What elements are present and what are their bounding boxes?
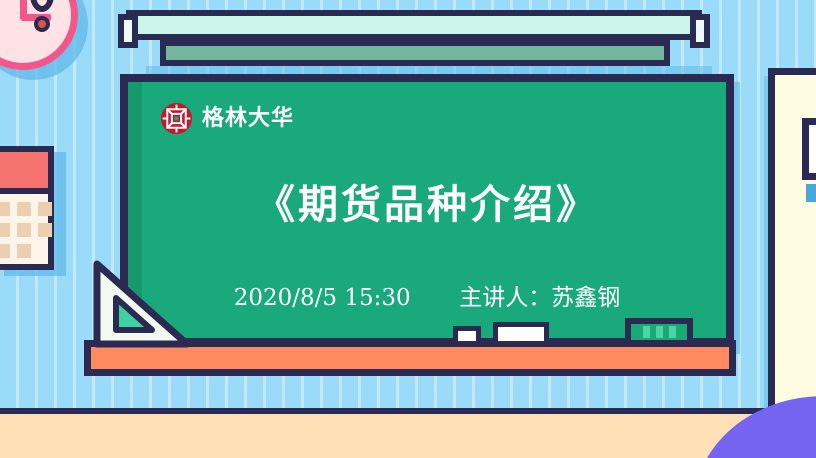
eraser-stripe [669, 326, 676, 338]
wall-calendar-icon [0, 146, 54, 270]
calendar-cell [38, 202, 52, 216]
eraser-stripe [643, 326, 650, 338]
door-accent-block [806, 184, 816, 202]
slide-canvas: 格林大华 《期货品种介绍》 2020/8/5 15:30 主讲人：苏鑫钢 [0, 0, 816, 458]
eraser-stripe [656, 326, 663, 338]
roller-screen [126, 6, 702, 64]
calendar-pin-icon [34, 16, 50, 32]
roller-screen-pulldown [160, 40, 670, 66]
calendar-cell [38, 223, 52, 237]
calendar-cell-empty [38, 244, 52, 258]
calendar-cell [17, 244, 31, 258]
set-square-ruler-icon [88, 258, 193, 350]
door-window [802, 118, 816, 180]
slide-subtitle: 2020/8/5 15:30 主讲人：苏鑫钢 [128, 278, 726, 312]
calendar-grid [0, 202, 54, 258]
chalk-stick-icon-small [453, 326, 481, 346]
blackboard: 格林大华 《期货品种介绍》 2020/8/5 15:30 主讲人：苏鑫钢 [120, 74, 734, 346]
blackboard-eraser-icon [625, 318, 693, 346]
brand-lockup: 格林大华 [160, 102, 294, 135]
circular-seal-logo-icon [160, 102, 193, 135]
slide-title: 《期货品种介绍》 [128, 172, 726, 230]
calendar-cell [0, 202, 10, 216]
roller-screen-tab-right [690, 14, 710, 48]
chalk-stick-icon-large [493, 322, 549, 346]
calendar-cell [0, 223, 10, 237]
slide-datetime: 2020/8/5 15:30 [234, 285, 411, 311]
blackboard-surface: 格林大华 《期货品种介绍》 2020/8/5 15:30 主讲人：苏鑫钢 [128, 82, 726, 338]
brand-name: 格林大华 [202, 108, 294, 130]
calendar-header [0, 152, 48, 194]
roller-screen-bar [126, 10, 702, 40]
calendar-cell [17, 202, 31, 216]
slide-speaker: 主讲人：苏鑫钢 [459, 285, 620, 311]
floor-left-patch [0, 414, 160, 458]
roller-screen-tab-left [118, 14, 138, 48]
calendar-cell [0, 244, 10, 258]
calendar-cell [17, 223, 31, 237]
